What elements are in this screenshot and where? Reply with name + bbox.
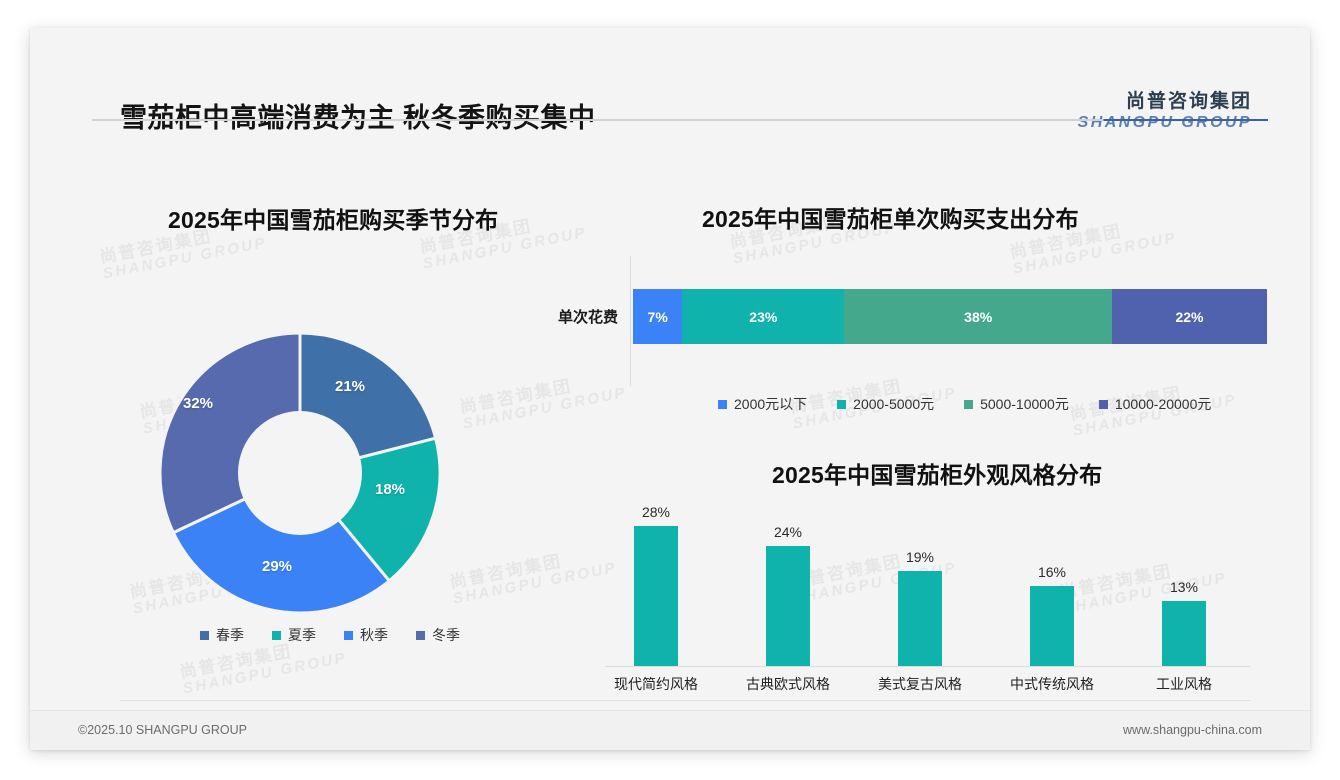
slide-footer: ©2025.10 SHANGPU GROUP www.shangpu-china… (30, 710, 1310, 750)
legend-swatch-2000-5000 (837, 400, 846, 409)
legend-item-under2000[interactable]: 2000元以下 (718, 394, 807, 414)
stacked-axis-line (630, 256, 631, 386)
legend-item-autumn[interactable]: 秋季 (344, 625, 388, 645)
donut-value-summer: 18% (375, 481, 405, 498)
stack-segment-5000-10000[interactable]: 38% (844, 289, 1112, 344)
copyright-text: ©2025.10 SHANGPU GROUP (78, 723, 247, 737)
donut-svg (150, 323, 450, 623)
stack-segment-2000-5000[interactable]: 23% (682, 289, 844, 344)
bars-axis-line (605, 666, 1250, 667)
header-divider (92, 119, 1268, 121)
bar-rect-classic-euro (766, 546, 810, 666)
stack-segment-10000-20000[interactable]: 22% (1112, 289, 1267, 344)
donut-value-autumn: 29% (262, 558, 292, 575)
style-bar-chart: 28% 24% 19% 16% 13% 现代简约风格 古典欧式风格 (590, 498, 1250, 708)
legend-swatch-winter (416, 631, 425, 640)
legend-swatch-10000-20000 (1099, 400, 1108, 409)
page-title: 雪茄柜中高端消费为主 秋冬季购买集中 (120, 96, 596, 135)
bar-label-american-retro: 美式复古风格 (854, 674, 986, 694)
legend-item-summer[interactable]: 夏季 (272, 625, 316, 645)
bar-label-classic-euro: 古典欧式风格 (722, 674, 854, 694)
bar-value-modern: 28% (642, 504, 670, 520)
bar-value-classic-euro: 24% (774, 524, 802, 540)
legend-item-5000-10000[interactable]: 5000-10000元 (964, 394, 1069, 414)
bar-rect-industrial (1162, 601, 1206, 666)
bar-label-industrial: 工业风格 (1118, 674, 1250, 694)
bar-column-classic-euro[interactable]: 24% (722, 498, 854, 666)
legend-item-spring[interactable]: 春季 (200, 625, 244, 645)
bar-rect-american-retro (898, 571, 942, 666)
bar-column-modern[interactable]: 28% (590, 498, 722, 666)
donut-hole (238, 411, 362, 535)
legend-label-spring: 春季 (216, 625, 244, 645)
bar-label-modern: 现代简约风格 (590, 674, 722, 694)
watermark-en: SHANGPU GROUP (102, 235, 269, 282)
stacked-bar-track: 7% 23% 38% 22% (633, 289, 1267, 344)
stack-value-2000-5000: 23% (749, 309, 777, 325)
bar-label-chinese-traditional: 中式传统风格 (986, 674, 1118, 694)
bars-category-labels: 现代简约风格 古典欧式风格 美式复古风格 中式传统风格 工业风格 (590, 674, 1250, 694)
bars-chart-title: 2025年中国雪茄柜外观风格分布 (772, 456, 1102, 490)
bar-column-american-retro[interactable]: 19% (854, 498, 986, 666)
legend-label-winter: 冬季 (432, 625, 460, 645)
bar-column-industrial[interactable]: 13% (1118, 498, 1250, 666)
logo-text-cn: 尚普咨询集团 (1078, 86, 1252, 113)
legend-item-winter[interactable]: 冬季 (416, 625, 460, 645)
legend-item-2000-5000[interactable]: 2000-5000元 (837, 394, 934, 414)
bar-value-chinese-traditional: 16% (1038, 564, 1066, 580)
slide-card: 尚普咨询集团SHANGPU GROUP 尚普咨询集团SHANGPU GROUP … (30, 28, 1310, 750)
stack-segment-under2000[interactable]: 7% (633, 289, 682, 344)
website-link[interactable]: www.shangpu-china.com (1123, 723, 1262, 737)
legend-label-2000-5000: 2000-5000元 (853, 394, 934, 414)
brand-logo: 尚普咨询集团 SHANGPU GROUP (1078, 86, 1252, 132)
donut-chart: 21% 18% 29% 32% (135, 323, 465, 623)
donut-value-spring: 21% (335, 378, 365, 395)
legend-item-10000-20000[interactable]: 10000-20000元 (1099, 394, 1212, 414)
bar-column-chinese-traditional[interactable]: 16% (986, 498, 1118, 666)
watermark-en: SHANGPU GROUP (182, 650, 349, 697)
watermark-en: SHANGPU GROUP (462, 385, 629, 432)
stack-value-10000-20000: 22% (1175, 309, 1203, 325)
donut-svg-wrap (150, 323, 450, 623)
legend-label-5000-10000: 5000-10000元 (980, 394, 1069, 414)
legend-swatch-summer (272, 631, 281, 640)
legend-label-summer: 夏季 (288, 625, 316, 645)
donut-legend: 春季 夏季 秋季 冬季 (200, 625, 460, 645)
legend-label-under2000: 2000元以下 (734, 394, 807, 414)
bar-value-american-retro: 19% (906, 549, 934, 565)
bar-value-industrial: 13% (1170, 579, 1198, 595)
donut-value-winter: 32% (183, 395, 213, 412)
logo-text-en: SHANGPU GROUP (1078, 114, 1252, 132)
stacked-category-label: 单次花费 (530, 306, 618, 327)
stack-value-under2000: 7% (648, 309, 668, 325)
legend-swatch-5000-10000 (964, 400, 973, 409)
legend-swatch-under2000 (718, 400, 727, 409)
stacked-legend: 2000元以下 2000-5000元 5000-10000元 10000-200… (718, 394, 1211, 414)
bar-rect-chinese-traditional (1030, 586, 1074, 666)
legend-swatch-spring (200, 631, 209, 640)
donut-chart-title: 2025年中国雪茄柜购买季节分布 (168, 201, 498, 235)
legend-label-10000-20000: 10000-20000元 (1115, 394, 1212, 414)
bars-plot: 28% 24% 19% 16% 13% (590, 498, 1250, 666)
legend-swatch-autumn (344, 631, 353, 640)
legend-label-autumn: 秋季 (360, 625, 388, 645)
stacked-chart-title: 2025年中国雪茄柜单次购买支出分布 (702, 200, 1079, 234)
footnote-divider (120, 700, 1250, 701)
stacked-bar-chart: 单次花费 7% 23% 38% 22% (530, 256, 1280, 386)
stack-value-5000-10000: 38% (964, 309, 992, 325)
bar-rect-modern (634, 526, 678, 666)
slide-header: 雪茄柜中高端消费为主 秋冬季购买集中 尚普咨询集团 SHANGPU GROUP (30, 28, 1310, 121)
